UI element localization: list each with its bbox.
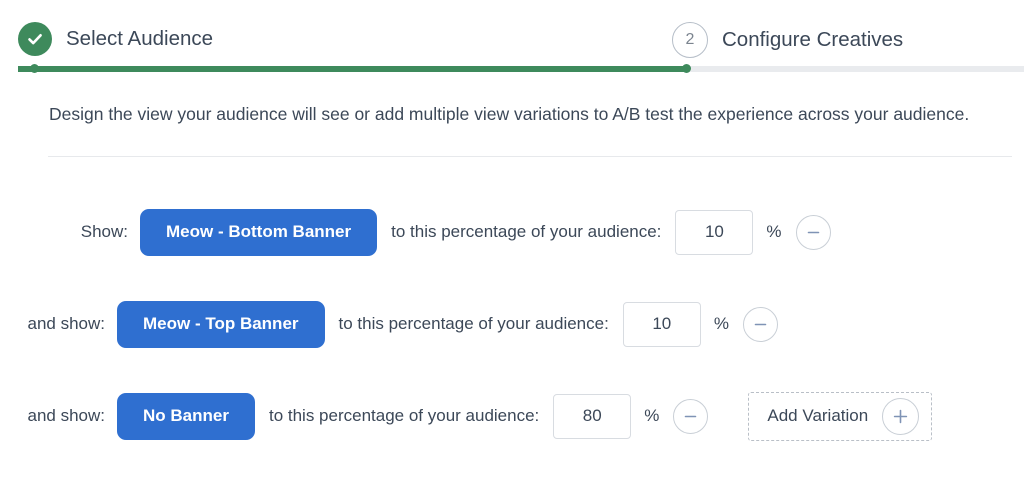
variation-name-button[interactable]: Meow - Bottom Banner [140,209,377,256]
plus-icon-container[interactable] [882,398,919,435]
variation-lead-label: and show: [0,406,105,426]
remove-variation-button[interactable] [673,399,708,434]
variation-lead-label: and show: [0,314,105,334]
step-select-audience[interactable]: Select Audience [18,22,213,56]
progress-bar [18,64,1024,73]
progress-fill [18,66,687,72]
minus-icon [752,316,769,333]
wizard-stepper: Select Audience 2 Configure Creatives [0,0,1024,80]
variation-percent-input[interactable] [623,302,701,347]
configure-creatives-wizard: Select Audience 2 Configure Creatives De… [0,0,1024,494]
variation-percentage-label: to this percentage of your audience: [339,314,609,334]
variation-row: and show: Meow - Top Banner to this perc… [0,278,1024,370]
minus-icon [682,408,699,425]
remove-variation-button[interactable] [796,215,831,250]
percent-sign: % [714,314,729,334]
add-variation-label: Add Variation [767,406,868,426]
variation-name-button[interactable]: No Banner [117,393,255,440]
remove-variation-button[interactable] [743,307,778,342]
page-description: Design the view your audience will see o… [49,104,969,125]
percent-sign: % [766,222,781,242]
progress-dot-start [30,64,39,73]
variation-percentage-label: to this percentage of your audience: [391,222,661,242]
step-number-badge: 2 [672,22,708,58]
variation-lead-label: Show: [0,222,128,242]
check-icon [18,22,52,56]
variation-percentage-label: to this percentage of your audience: [269,406,539,426]
minus-icon [805,224,822,241]
variation-name-button[interactable]: Meow - Top Banner [117,301,325,348]
variation-list: Show: Meow - Bottom Banner to this perce… [0,186,1024,462]
percent-sign: % [644,406,659,426]
section-divider [48,156,1012,157]
variation-row: and show: No Banner to this percentage o… [0,370,1024,462]
step-label-select-audience: Select Audience [66,27,213,51]
variation-percent-input[interactable] [675,210,753,255]
progress-dot-current [682,64,691,73]
add-variation-button[interactable]: Add Variation [748,392,932,441]
plus-icon [891,407,910,426]
step-label-configure-creatives: Configure Creatives [722,28,903,52]
variation-row: Show: Meow - Bottom Banner to this perce… [0,186,1024,278]
variation-percent-input[interactable] [553,394,631,439]
step-configure-creatives[interactable]: 2 Configure Creatives [672,22,903,58]
